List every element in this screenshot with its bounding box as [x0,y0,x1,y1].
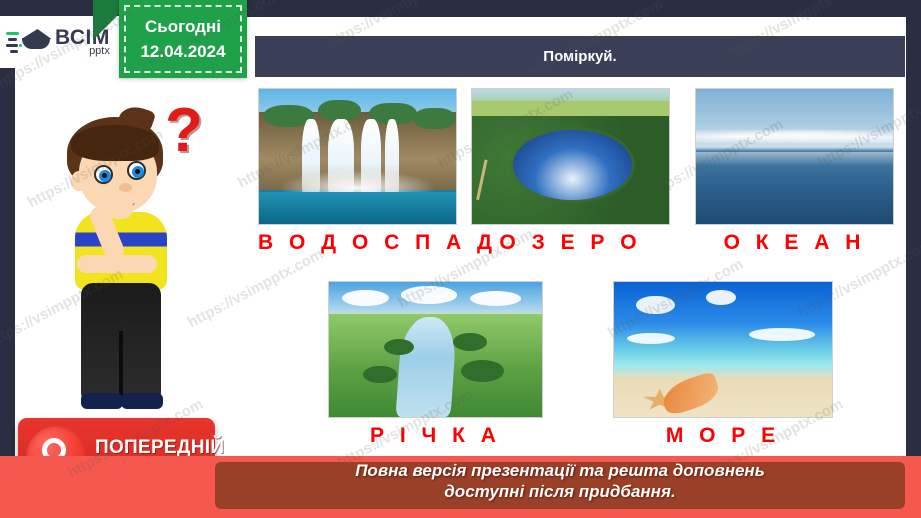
card-caption: О К Е А Н [695,231,894,255]
card-ocean[interactable]: О К Е А Н [695,88,894,255]
lake-aerial-photo [471,88,670,225]
card-caption: Р І Ч К А [328,424,543,448]
banner-notice-line2: доступні після придбання. [215,481,905,502]
banner-notice-text: Повна версія презентації та решта доповн… [215,460,905,503]
card-caption: М О Р Е [613,424,833,448]
question-mark-icon: ? [165,100,203,162]
date-badge-value: 12.04.2024 [119,42,247,62]
brand-text: ВСІМ pptx [55,27,110,57]
date-badge: Сьогодні 12.04.2024 [119,0,247,78]
card-lake[interactable]: О З Е Р О [471,88,670,255]
card-caption: О З Е Р О [471,231,670,255]
graduation-cap-icon [6,25,52,59]
slide-canvas: ВСІМ pptx Сьогодні 12.04.2024 Поміркуй. [0,0,921,518]
slide-title-bar: Поміркуй. [255,36,905,77]
card-sea[interactable]: М О Р Е [613,281,833,448]
card-waterfall[interactable]: В О Д О С П А Д [258,88,497,255]
bottom-banner: Як назвати це одним словом? Повна версія… [0,456,921,518]
thinking-boy-illustration: ? [45,95,205,425]
slide-title-text: Поміркуй. [543,48,616,65]
waterfall-photo [258,88,457,225]
banner-notice-line1: Повна версія презентації та решта доповн… [215,460,905,481]
tropical-beach-photo [613,281,833,418]
card-caption: В О Д О С П А Д [258,231,497,255]
preview-badge-line1: ПОПЕРЕДНІЙ [95,438,224,457]
date-badge-label: Сьогодні [119,17,247,37]
ocean-horizon-photo [695,88,894,225]
card-river[interactable]: Р І Ч К А [328,281,543,448]
river-meadow-photo [328,281,543,418]
